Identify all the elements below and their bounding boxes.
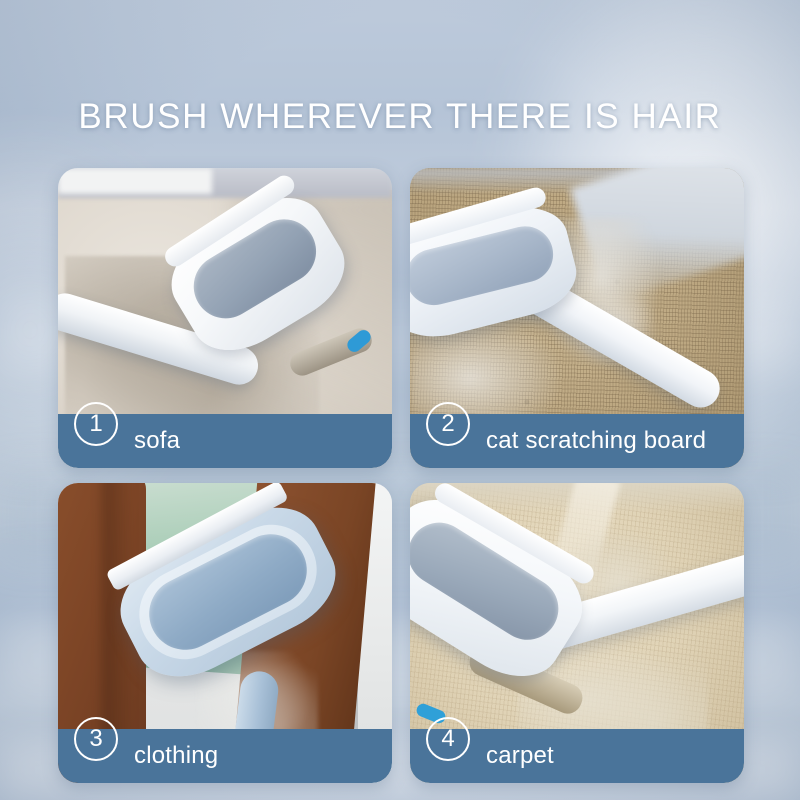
product-poster: BRUSH WHEREVER THERE IS HAIR s: [0, 0, 800, 800]
card-caption-label: sofa: [134, 427, 180, 455]
card-number-badge: 4: [426, 717, 470, 761]
card-caption-label: clothing: [134, 742, 218, 770]
feature-card-cat-scratching-board[interactable]: cat scratching board 2: [410, 168, 744, 468]
page-title: BRUSH WHEREVER THERE IS HAIR: [0, 97, 800, 137]
card-number-badge: 2: [426, 402, 470, 446]
background-wall-highlight: [58, 168, 212, 194]
card-number-badge: 3: [74, 717, 118, 761]
feature-card-clothing[interactable]: clothing 3: [58, 483, 392, 783]
feature-card-grid: sofa 1 cat: [58, 168, 744, 783]
card-caption-label: cat scratching board: [486, 427, 706, 455]
feature-card-sofa[interactable]: sofa 1: [58, 168, 392, 468]
card-caption-label: carpet: [486, 742, 554, 770]
card-number-badge: 1: [74, 402, 118, 446]
feature-card-carpet[interactable]: carpet 4: [410, 483, 744, 783]
